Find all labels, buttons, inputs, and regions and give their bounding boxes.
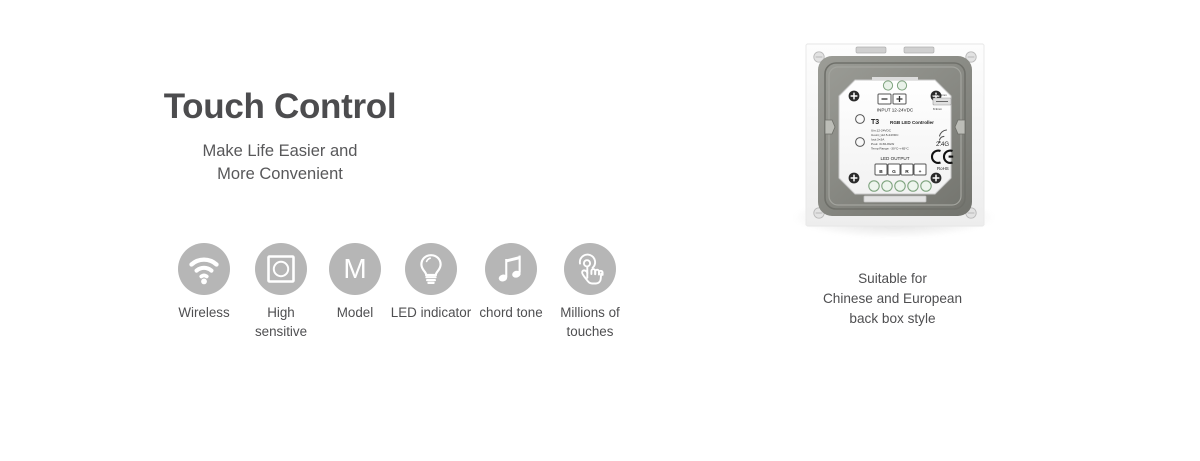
label-spec-2: Uout:(-)12.5-24VDC [871, 133, 899, 137]
label-spec-5: Temp Range: -30°C~+65°C [871, 147, 909, 151]
label-wire-gauge: 0.5-2.5mm [933, 93, 947, 97]
hand-touch-icon [564, 243, 616, 295]
label-model: T3 [871, 119, 879, 126]
label-spec-3: Iout:3×3A [871, 138, 885, 142]
page-title: Touch Control [0, 88, 560, 127]
hero-text-panel: Touch Control Make Life Easier and More … [0, 0, 700, 461]
product-caption: Suitable for Chinese and European back b… [785, 269, 1000, 329]
label-led-output: LED OUTPUT [880, 156, 909, 161]
terminal-r: R [905, 169, 909, 175]
feature-item-millions-of-touches: Millions of touches [542, 243, 638, 341]
label-strip-length: 8-9mm [933, 107, 943, 111]
label-spec-1: Uin:12-24VDC [871, 129, 892, 133]
product-caption-line-3: back box style [785, 309, 1000, 329]
label-rf-band: 2.4G [936, 142, 949, 148]
product-showcase: INPUT 12-24VDC T3 RGB LED Controller Uin… [790, 28, 1005, 328]
hero-subtitle-line-2: More Convenient [0, 163, 560, 186]
label-spec-4: Pout: 3×36-8GW [871, 142, 894, 146]
feature-icon-row: Wireless High sensitive M Model [170, 243, 640, 353]
terminal-plus: + [919, 170, 922, 175]
label-model-desc: RGB LED Controller [890, 120, 934, 125]
label-input-voltage: INPUT 12-24VDC [877, 108, 914, 113]
product-caption-line-2: Chinese and European [785, 289, 1000, 309]
wifi-icon [178, 243, 230, 295]
lightbulb-icon [405, 243, 457, 295]
letter-m-glyph: M [329, 243, 381, 295]
music-note-icon [485, 243, 537, 295]
terminal-g: G [892, 169, 896, 175]
letter-m-icon: M [329, 243, 381, 295]
hero-subtitle: Make Life Easier and More Convenient [0, 140, 560, 187]
rohs-mark-label: RoHS [937, 166, 949, 171]
terminal-b: B [879, 169, 883, 175]
hero-subtitle-line-1: Make Life Easier and [202, 142, 357, 160]
feature-label-millions-of-touches: Millions of touches [542, 304, 638, 341]
touch-panel-icon [255, 243, 307, 295]
product-image-t3-controller: INPUT 12-24VDC T3 RGB LED Controller Uin… [802, 36, 988, 241]
product-caption-line-1: Suitable for [785, 269, 1000, 289]
